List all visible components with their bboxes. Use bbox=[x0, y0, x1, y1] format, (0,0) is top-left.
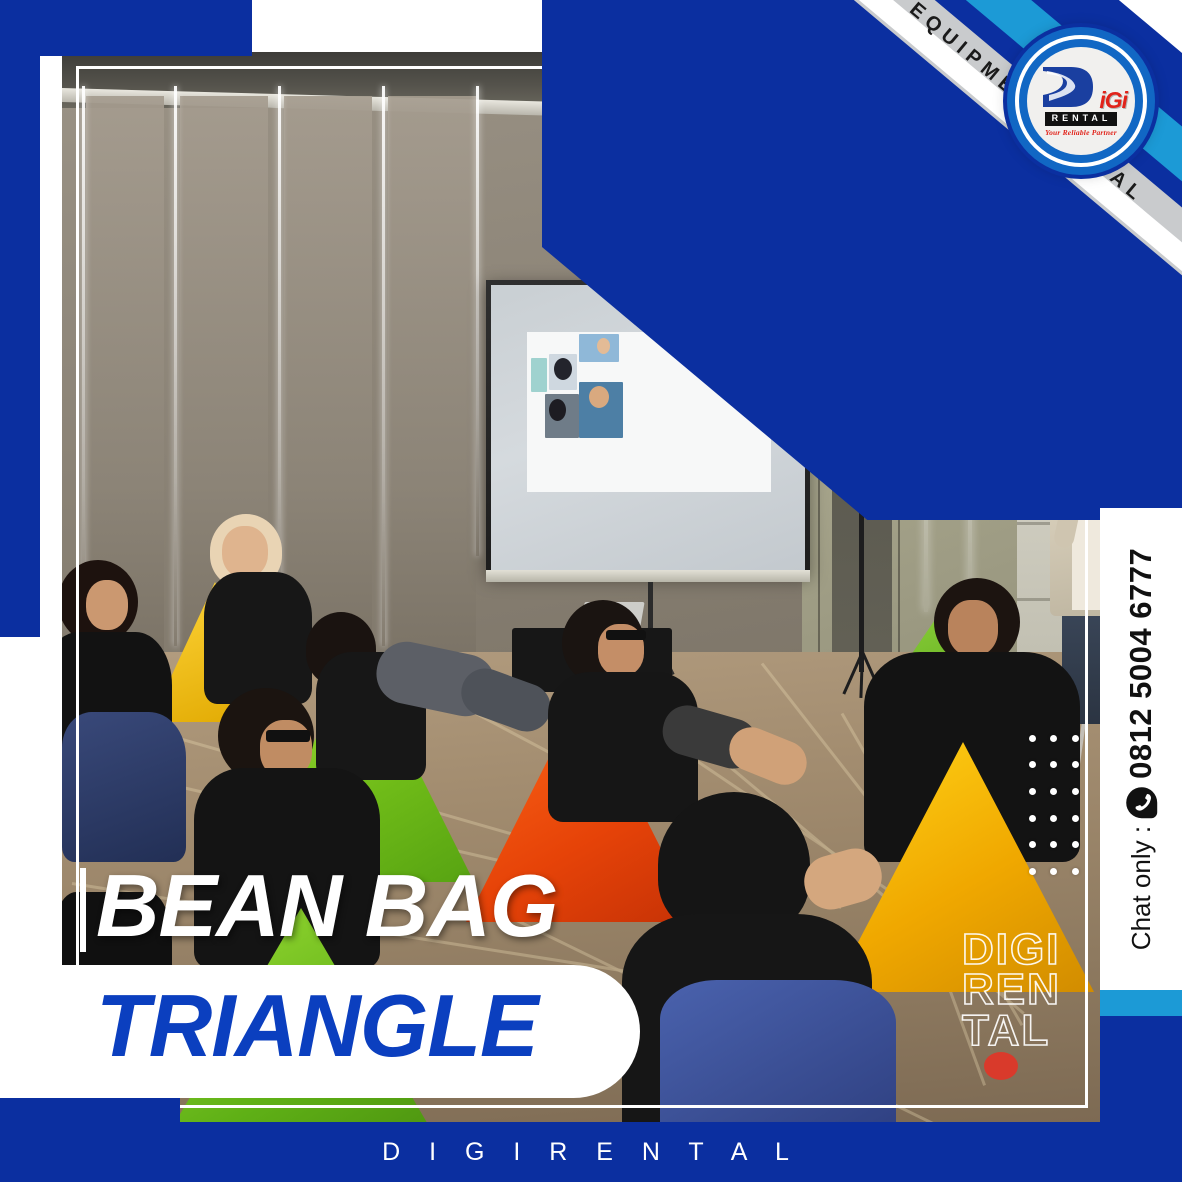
contact-strip[interactable]: Chat only : 0812 5004 6777 bbox=[1100, 508, 1182, 990]
logo-ring: iGi RENTAL Your Reliable Partner bbox=[1015, 35, 1147, 167]
footer-brand-text: D I G I R E N T A L bbox=[382, 1138, 800, 1167]
light-strip bbox=[174, 86, 177, 646]
frame-left-bar bbox=[0, 0, 40, 637]
floor-accent bbox=[984, 1052, 1018, 1080]
headline-accent-tick bbox=[80, 868, 86, 952]
whatsapp-icon[interactable] bbox=[1126, 787, 1157, 818]
footer-bar: D I G I R E N T A L bbox=[0, 1122, 1182, 1182]
contact-rotated-content: Chat only : 0812 5004 6777 bbox=[1123, 548, 1159, 950]
logo-rental-word: RENTAL bbox=[1045, 112, 1118, 125]
screen-bottom-bar bbox=[486, 570, 810, 582]
brand-logo[interactable]: iGi RENTAL Your Reliable Partner bbox=[1007, 27, 1155, 175]
light-strip bbox=[382, 86, 385, 646]
light-strip bbox=[476, 86, 479, 556]
headline-line-1: BEAN BAG bbox=[96, 862, 557, 950]
contact-label: Chat only : bbox=[1126, 826, 1157, 950]
window-blind bbox=[284, 96, 372, 656]
logo-tagline: Your Reliable Partner bbox=[1045, 128, 1117, 137]
poster-canvas: EVENT PROPERTY EQUIPMENT RENTAL iGi RENT… bbox=[0, 0, 1182, 1182]
window-blind bbox=[388, 96, 476, 656]
logo-igi-text: iGi bbox=[1099, 89, 1127, 112]
cyan-accent-bar bbox=[1100, 990, 1182, 1016]
contact-phone-number[interactable]: 0812 5004 6777 bbox=[1123, 548, 1159, 779]
logo-d-icon bbox=[1041, 65, 1097, 109]
headline-line-2: TRIANGLE bbox=[96, 982, 538, 1070]
frame-bottom-right-block bbox=[1100, 1016, 1182, 1122]
logo-disc: iGi RENTAL Your Reliable Partner bbox=[1027, 47, 1135, 155]
dot-grid-decoration bbox=[1022, 725, 1086, 885]
logo-mark: iGi bbox=[1037, 65, 1125, 111]
